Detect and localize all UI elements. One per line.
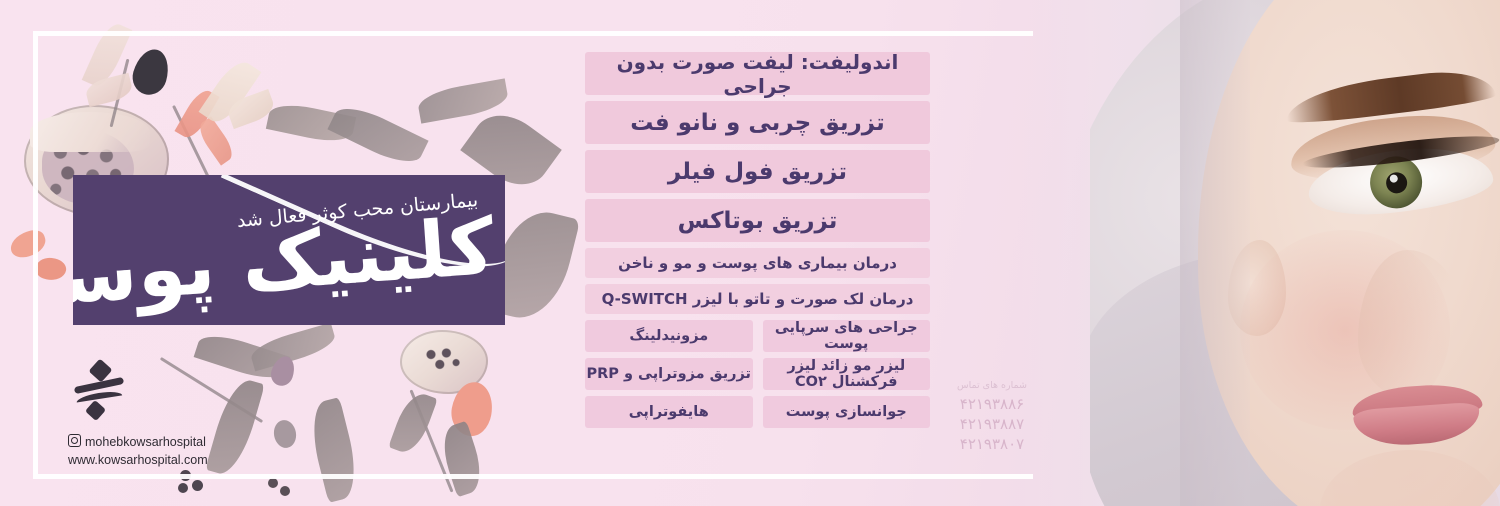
service-pair-2-right[interactable]: لیزر مو زائد لیزر فرکشنال CO۲ [763, 358, 931, 390]
service-featured-4[interactable]: تزریق بوتاکس [585, 199, 930, 242]
berry-cluster-5 [280, 486, 290, 496]
contact-number-1[interactable]: ۴۲۱۹۳۸۸۶ [946, 395, 1038, 415]
banner-title: کلینیک پوست [73, 207, 497, 325]
service-pair-1-left[interactable]: مزونیدلینگ [585, 320, 753, 352]
contact-block: شماره های تماس ۴۲۱۹۳۸۸۶ ۴۲۱۹۳۸۸۷ ۴۲۱۹۳۸۰… [946, 380, 1038, 455]
social-info: mohebkowsarhospital www.kowsarhospital.c… [68, 433, 208, 469]
service-pair-3-right[interactable]: جوانسازی پوست [763, 396, 931, 428]
service-pair-2-left[interactable]: تزریق مزوتراپی و PRP [585, 358, 753, 390]
photo-left-fade [1180, 0, 1250, 506]
berry-cluster-2 [192, 480, 203, 491]
hospital-logo-icon [70, 362, 132, 420]
contact-number-3[interactable]: ۴۲۱۹۳۸۰۷ [946, 435, 1038, 455]
contact-number-2[interactable]: ۴۲۱۹۳۸۸۷ [946, 415, 1038, 435]
service-pair-row-1: جراحی های سرپایی پوست مزونیدلینگ [585, 320, 930, 352]
berry-cluster-4 [268, 478, 278, 488]
instagram-handle: mohebkowsarhospital [85, 435, 206, 449]
instagram-line[interactable]: mohebkowsarhospital [68, 433, 208, 451]
service-pair-row-2: لیزر مو زائد لیزر فرکشنال CO۲ تزریق مزوت… [585, 358, 930, 390]
service-featured-2[interactable]: تزریق چربی و نانو فت [585, 101, 930, 144]
clinic-banner: بیمارستان محب کوثر فعال شد کلینیک پوست [73, 175, 505, 325]
service-pair-row-3: جوانسازی پوست هایفوتراپی [585, 396, 930, 428]
services-list: اندولیفت: لیفت صورت بدون جراحی تزریق چرب… [585, 52, 930, 434]
service-pair-1-right[interactable]: جراحی های سرپایی پوست [763, 320, 931, 352]
service-featured-3[interactable]: تزریق فول فیلر [585, 150, 930, 193]
service-wide-2[interactable]: درمان لک صورت و تاتو با لیزر Q-SWITCH [585, 284, 930, 314]
service-featured-1[interactable]: اندولیفت: لیفت صورت بدون جراحی [585, 52, 930, 95]
model-photo [1090, 0, 1500, 506]
contact-label: شماره های تماس [946, 380, 1038, 391]
service-wide-1[interactable]: درمان بیماری های پوست و مو و ناخن [585, 248, 930, 278]
service-pair-3-left[interactable]: هایفوتراپی [585, 396, 753, 428]
website-url[interactable]: www.kowsarhospital.com [68, 451, 208, 469]
berry-cluster-3 [178, 483, 188, 493]
poster-canvas: بیمارستان محب کوثر فعال شد کلینیک پوست m… [0, 0, 1500, 506]
instagram-icon [68, 434, 81, 447]
